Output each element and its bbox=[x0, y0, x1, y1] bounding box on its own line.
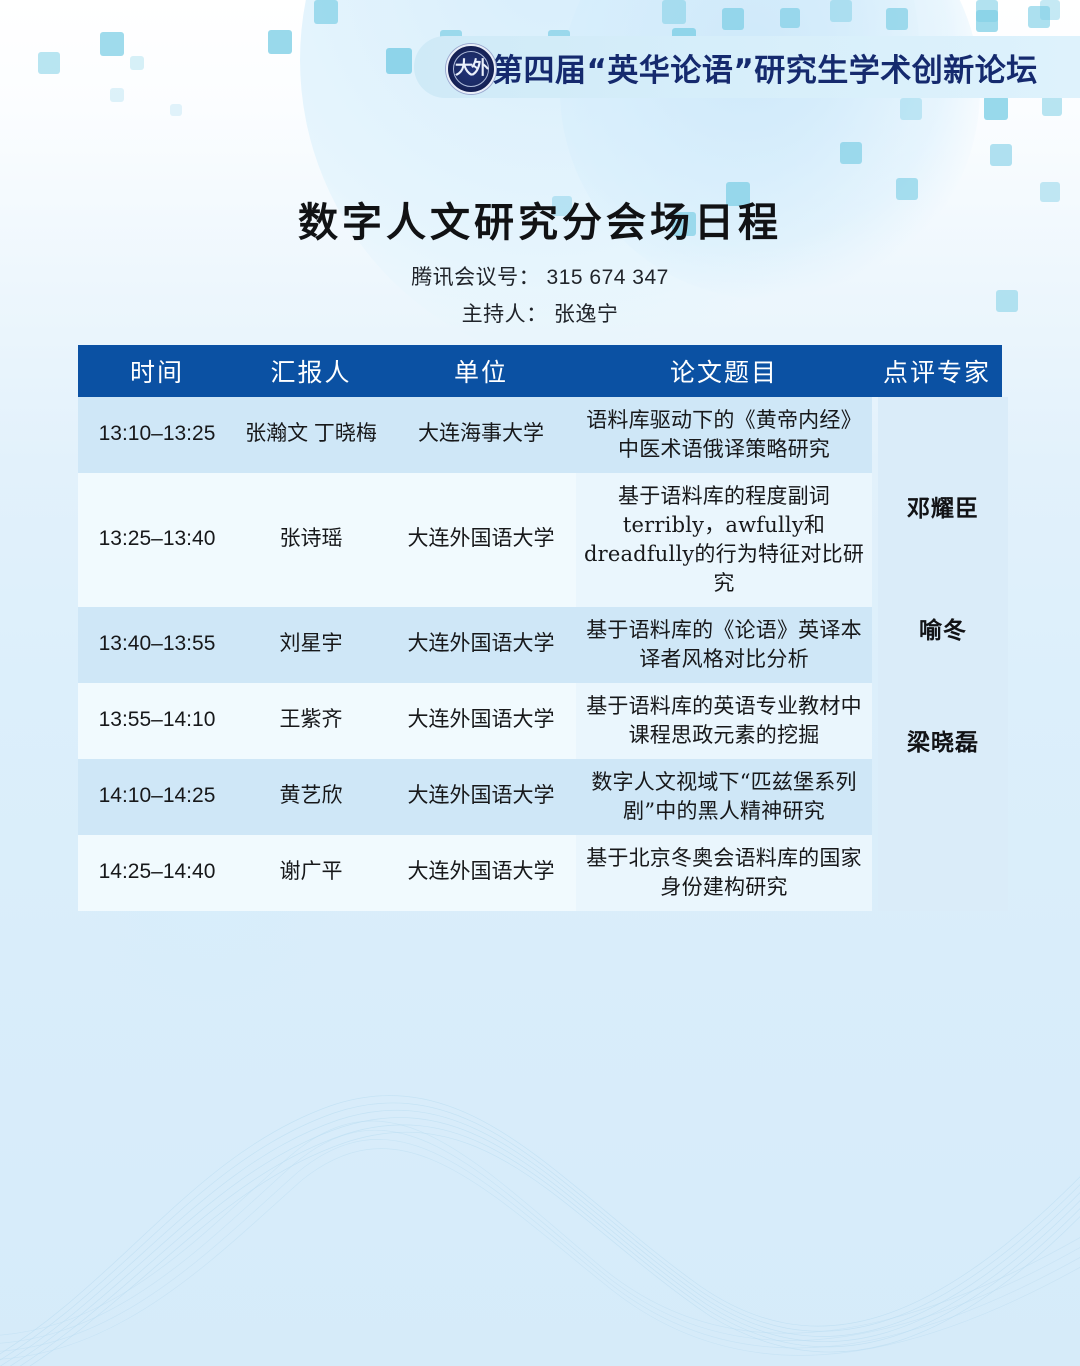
table-body: 13:10–13:25 张瀚文 丁晓梅 大连海事大学 语料库驱动下的《黄帝内经》… bbox=[78, 397, 1002, 911]
pixel-square-decor bbox=[780, 8, 800, 28]
pixel-square-decor bbox=[886, 8, 908, 30]
cell-presenter: 谢广平 bbox=[236, 849, 386, 896]
page-title: 数字人文研究分会场日程 bbox=[0, 198, 1080, 248]
pixel-square-decor bbox=[1042, 96, 1062, 116]
pixel-square-decor bbox=[268, 30, 292, 54]
table-row: 13:40–13:55 刘星宇 大连外国语大学 基于语料库的《论语》英译本译者风… bbox=[78, 607, 872, 683]
column-header-organization: 单位 bbox=[386, 353, 576, 389]
table-row: 13:25–13:40 张诗瑶 大连外国语大学 基于语料库的程度副词terrib… bbox=[78, 473, 872, 607]
header-banner: 第四届“英华论语”研究生学术创新论坛 bbox=[414, 36, 1080, 98]
expert-name: 梁晓磊 bbox=[878, 723, 1008, 757]
cell-time: 13:10–13:25 bbox=[78, 411, 236, 458]
meeting-number: 腾讯会议号： 315 674 347 bbox=[0, 262, 1080, 295]
cell-organization: 大连外国语大学 bbox=[386, 697, 576, 744]
cell-presenter: 张诗瑶 bbox=[236, 516, 386, 563]
cell-presenter: 王紫齐 bbox=[236, 697, 386, 744]
cell-organization: 大连外国语大学 bbox=[386, 516, 576, 563]
column-header-paper-title: 论文题目 bbox=[576, 353, 872, 389]
table-row: 14:25–14:40 谢广平 大连外国语大学 基于北京冬奥会语料库的国家身份建… bbox=[78, 835, 872, 911]
cell-time: 13:40–13:55 bbox=[78, 621, 236, 668]
cell-presenter: 黄艺欣 bbox=[236, 773, 386, 820]
cell-time: 13:25–13:40 bbox=[78, 516, 236, 563]
column-header-expert: 点评专家 bbox=[872, 353, 1002, 389]
pixel-square-decor bbox=[314, 0, 338, 24]
schedule-table: 时间 汇报人 单位 论文题目 点评专家 13:10–13:25 张瀚文 丁晓梅 … bbox=[78, 345, 1002, 911]
pixel-square-decor bbox=[990, 144, 1012, 166]
cell-paper-title: 语料库驱动下的《黄帝内经》中医术语俄译策略研究 bbox=[576, 397, 872, 473]
seal-glyph: 大外 bbox=[455, 60, 487, 78]
pixel-square-decor bbox=[896, 178, 918, 200]
pixel-square-decor bbox=[976, 10, 998, 32]
cell-paper-title: 数字人文视域下“匹兹堡系列剧”中的黑人精神研究 bbox=[576, 759, 872, 835]
pixel-square-decor bbox=[100, 32, 124, 56]
cell-presenter: 刘星宇 bbox=[236, 621, 386, 668]
table-row: 14:10–14:25 黄艺欣 大连外国语大学 数字人文视域下“匹兹堡系列剧”中… bbox=[78, 759, 872, 835]
cell-organization: 大连外国语大学 bbox=[386, 773, 576, 820]
university-seal-icon: 大外 bbox=[446, 44, 496, 94]
pixel-square-decor bbox=[830, 0, 852, 22]
column-header-presenter: 汇报人 bbox=[236, 353, 386, 389]
pixel-square-decor bbox=[130, 56, 144, 70]
pixel-square-decor bbox=[1028, 6, 1050, 28]
pixel-square-decor bbox=[170, 104, 182, 116]
pixel-square-decor bbox=[984, 96, 1008, 120]
poster-canvas: 第四届“英华论语”研究生学术创新论坛 大外 数字人文研究分会场日程 腾讯会议号：… bbox=[0, 0, 1080, 1366]
forum-title: 第四届“英华论语”研究生学术创新论坛 bbox=[492, 45, 1038, 90]
pixel-square-decor bbox=[900, 98, 922, 120]
cell-organization: 大连外国语大学 bbox=[386, 621, 576, 668]
cell-paper-title: 基于语料库的《论语》英译本译者风格对比分析 bbox=[576, 607, 872, 683]
pixel-square-decor bbox=[1040, 0, 1060, 20]
pixel-square-decor bbox=[110, 88, 124, 102]
expert-column: 邓耀臣 喻冬 梁晓磊 bbox=[878, 397, 1008, 911]
table-header-row: 时间 汇报人 单位 论文题目 点评专家 bbox=[78, 345, 1002, 397]
table-row: 13:10–13:25 张瀚文 丁晓梅 大连海事大学 语料库驱动下的《黄帝内经》… bbox=[78, 397, 872, 473]
cell-paper-title: 基于北京冬奥会语料库的国家身份建构研究 bbox=[576, 835, 872, 911]
cell-time: 14:25–14:40 bbox=[78, 849, 236, 896]
expert-name: 喻冬 bbox=[878, 611, 1008, 645]
expert-name: 邓耀臣 bbox=[878, 489, 1008, 523]
schedule-rows: 13:10–13:25 张瀚文 丁晓梅 大连海事大学 语料库驱动下的《黄帝内经》… bbox=[78, 397, 872, 911]
pixel-square-decor bbox=[38, 52, 60, 74]
table-row: 13:55–14:10 王紫齐 大连外国语大学 基于语料库的英语专业教材中课程思… bbox=[78, 683, 872, 759]
pixel-square-decor bbox=[386, 48, 412, 74]
wave-pattern-decor bbox=[0, 1036, 1080, 1366]
cell-presenter: 张瀚文 丁晓梅 bbox=[236, 411, 386, 458]
cell-paper-title: 基于语料库的英语专业教材中课程思政元素的挖掘 bbox=[576, 683, 872, 759]
pixel-square-decor bbox=[840, 142, 862, 164]
pixel-square-decor bbox=[976, 0, 998, 22]
pixel-square-decor bbox=[722, 8, 744, 30]
column-header-time: 时间 bbox=[78, 353, 236, 389]
pixel-square-decor bbox=[662, 0, 686, 24]
cell-time: 13:55–14:10 bbox=[78, 697, 236, 744]
cell-paper-title: 基于语料库的程度副词terribly，awfully和dreadfully的行为… bbox=[576, 473, 872, 607]
cell-time: 14:10–14:25 bbox=[78, 773, 236, 820]
host-name: 主持人： 张逸宁 bbox=[0, 299, 1080, 332]
cell-organization: 大连外国语大学 bbox=[386, 849, 576, 896]
cell-organization: 大连海事大学 bbox=[386, 411, 576, 458]
title-block: 数字人文研究分会场日程 腾讯会议号： 315 674 347 主持人： 张逸宁 bbox=[0, 198, 1080, 331]
